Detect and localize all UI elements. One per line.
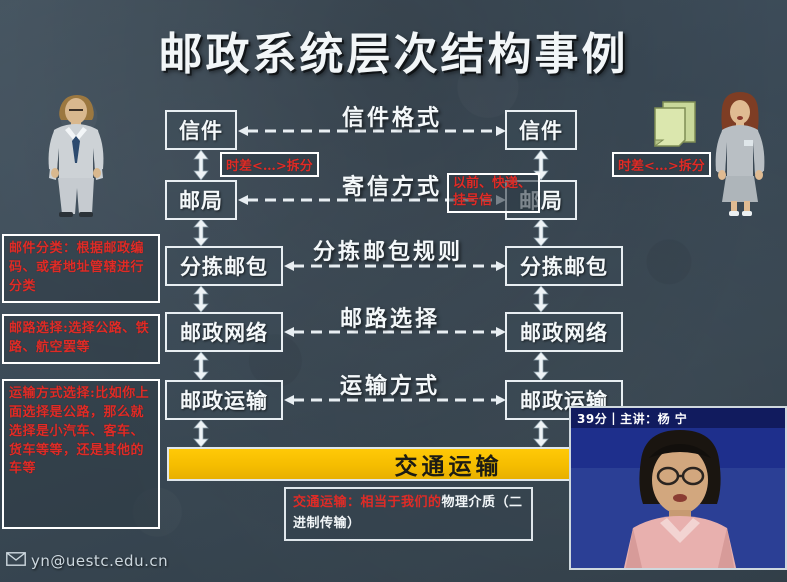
vertical-arrow-right-4: [533, 352, 549, 380]
watermark-email: yn@uestc.edu.cn: [31, 552, 168, 570]
protocol-label-sorting-rules: 分拣邮包规则: [313, 234, 463, 266]
video-player-overlay[interactable]: 39分 | 主讲：杨 宁: [569, 406, 787, 570]
side-note-transport-selection: 运输方式选择:比如你上面选择是公路，那么就选择是小汽车、客车、货车等等，还是其他…: [2, 379, 160, 529]
vertical-arrow-left-3: [193, 286, 209, 312]
video-frame-speaker: [571, 408, 787, 570]
businessman-clipart: [28, 86, 124, 222]
side-note-route-selection: 邮路选择:选择公路、铁路、航空罢等: [2, 314, 160, 364]
layer-box-left-letter[interactable]: 信件: [165, 110, 237, 150]
mail-icon: [6, 552, 26, 570]
layer-box-right-letter[interactable]: 信件: [505, 110, 577, 150]
physical-layer-bar[interactable]: 交通运输: [167, 447, 615, 481]
vertical-arrow-left-4: [193, 352, 209, 380]
video-caption-separator: |: [611, 411, 616, 425]
caption-box: 交通运输：相当于我们的物理介质（二进制传输）: [284, 487, 533, 541]
side-note-mail-classification: 邮件分类：根据邮政编码、或者地址管辖进行分类: [2, 234, 160, 303]
video-presenter-label: 主讲：杨 宁: [620, 410, 687, 427]
letters-stack-icon: [653, 100, 699, 152]
protocol-label-route-selection: 邮路选择: [340, 301, 440, 333]
vertical-arrow-right-3: [533, 286, 549, 312]
layer-box-left-sorting[interactable]: 分拣邮包: [165, 246, 283, 286]
layer-box-left-transport[interactable]: 邮政运输: [165, 380, 283, 420]
video-time-label: 39分: [577, 410, 607, 427]
inline-note-middle: 以前、快递、挂号信: [447, 173, 540, 213]
physical-layer-label: 交通运输: [280, 447, 503, 481]
protocol-label-transport-method: 运输方式: [340, 368, 440, 400]
inline-note-top-left: 时差<…>拆分: [220, 152, 319, 177]
layer-box-left-network[interactable]: 邮政网络: [165, 312, 283, 352]
protocol-label-mailing-method: 寄信方式: [342, 169, 442, 201]
vertical-arrow-right-5: [533, 420, 549, 447]
vertical-arrow-left-2: [193, 219, 209, 246]
presentation-slide: 邮政系统层次结构事例: [0, 0, 787, 582]
layer-box-right-sorting[interactable]: 分拣邮包: [505, 246, 623, 286]
vertical-arrow-left-1: [193, 150, 209, 180]
layer-box-right-network[interactable]: 邮政网络: [505, 312, 623, 352]
inline-note-top-right: 时差<…>拆分: [612, 152, 711, 177]
page-title: 邮政系统层次结构事例: [0, 18, 787, 82]
protocol-label-letter-format: 信件格式: [342, 100, 442, 132]
video-caption-bar: 39分 | 主讲：杨 宁: [571, 408, 785, 428]
vertical-arrow-left-5: [193, 420, 209, 447]
layer-box-left-post-office[interactable]: 邮局: [165, 180, 237, 220]
watermark: yn@uestc.edu.cn: [6, 552, 168, 570]
caption-red-text: 交通运输：相当于我们的: [293, 495, 442, 510]
vertical-arrow-right-2: [533, 219, 549, 246]
businesswoman-clipart: [700, 88, 780, 222]
